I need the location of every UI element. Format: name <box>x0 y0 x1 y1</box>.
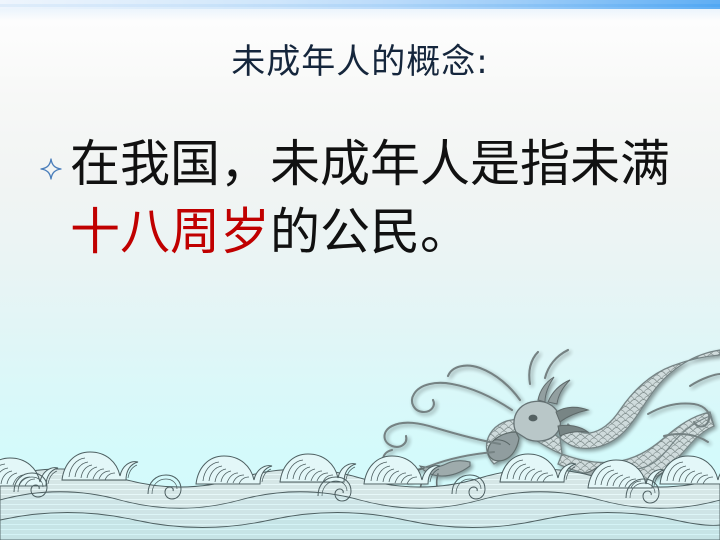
body-text-part-1: 在我国，未成年人是指未满 <box>70 135 670 193</box>
wave-pattern <box>0 452 720 540</box>
four-pointed-star-icon <box>40 158 62 180</box>
chinese-dragon-and-waves-decoration <box>0 340 720 540</box>
slide-body: 在我国，未成年人是指未满十八周岁的公民。 <box>40 130 700 266</box>
decorative-top-bar-fade <box>0 9 720 21</box>
dragon-illustration <box>383 350 720 502</box>
bullet-list-item: 在我国，未成年人是指未满十八周岁的公民。 <box>40 130 700 266</box>
body-text-highlight: 十八周岁 <box>70 203 270 261</box>
slide-title: 未成年人的概念: <box>0 44 720 81</box>
decorative-top-bar-highlight <box>0 4 720 7</box>
body-text-part-3: 的公民。 <box>270 203 470 261</box>
body-paragraph: 在我国，未成年人是指未满十八周岁的公民。 <box>70 130 700 266</box>
presentation-slide: 未成年人的概念: 在我国，未成年人是指未满十八周岁的公民。 <box>0 0 720 540</box>
